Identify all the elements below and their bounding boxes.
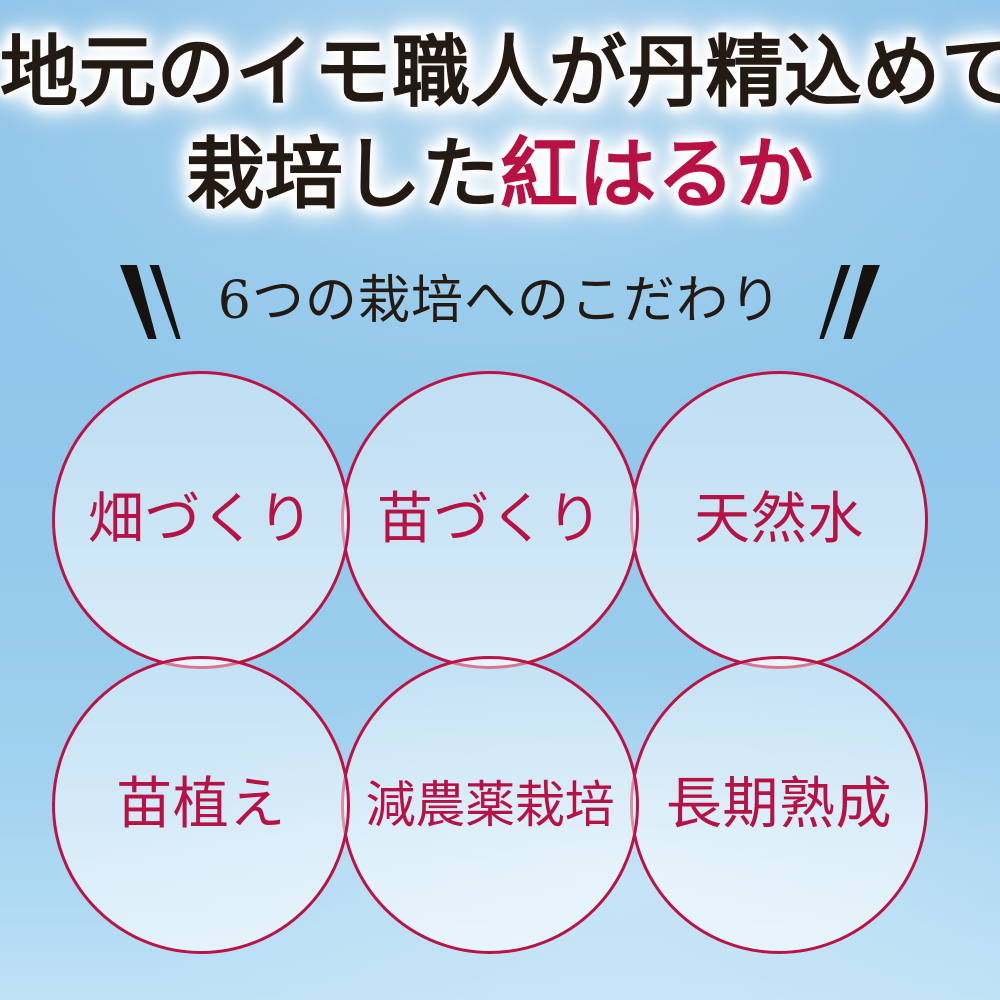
bubble-label: 減農薬栽培 — [366, 780, 615, 830]
title-line-1-text: 地元のイモ職人が丹精込めて — [0, 27, 1000, 118]
title-line-1: 地元のイモ職人が丹精込めて 地元のイモ職人が丹精込めて — [0, 34, 1000, 130]
bubble-label: 苗づくり — [377, 492, 603, 548]
bubble-gennoyaku-saibai: 減農薬栽培 — [341, 656, 639, 954]
title-line-2-black: 栽培した — [186, 129, 500, 220]
bubble-label: 畑づくり — [88, 492, 314, 548]
promotional-poster: 地元のイモ職人が丹精込めて 地元のイモ職人が丹精込めて 栽培した紅はるか 栽培し… — [0, 0, 1000, 1000]
bubble-nae-zukuri: 苗づくり — [341, 371, 639, 669]
title-line-2-text: 栽培した紅はるか — [186, 129, 813, 220]
bubble-label: 長期熟成 — [666, 777, 892, 833]
bubble-hatake-zukuri: 畑づくり — [52, 371, 350, 669]
bubble-label: 苗植え — [116, 777, 286, 833]
bubble-label: 天然水 — [694, 492, 864, 548]
bubble-tennensui: 天然水 — [630, 371, 928, 669]
bubble-naeue: 苗植え — [52, 656, 350, 954]
title-line-2-red-highlight: 紅はるか — [500, 129, 814, 220]
bubble-choki-jukusei: 長期熟成 — [630, 656, 928, 954]
